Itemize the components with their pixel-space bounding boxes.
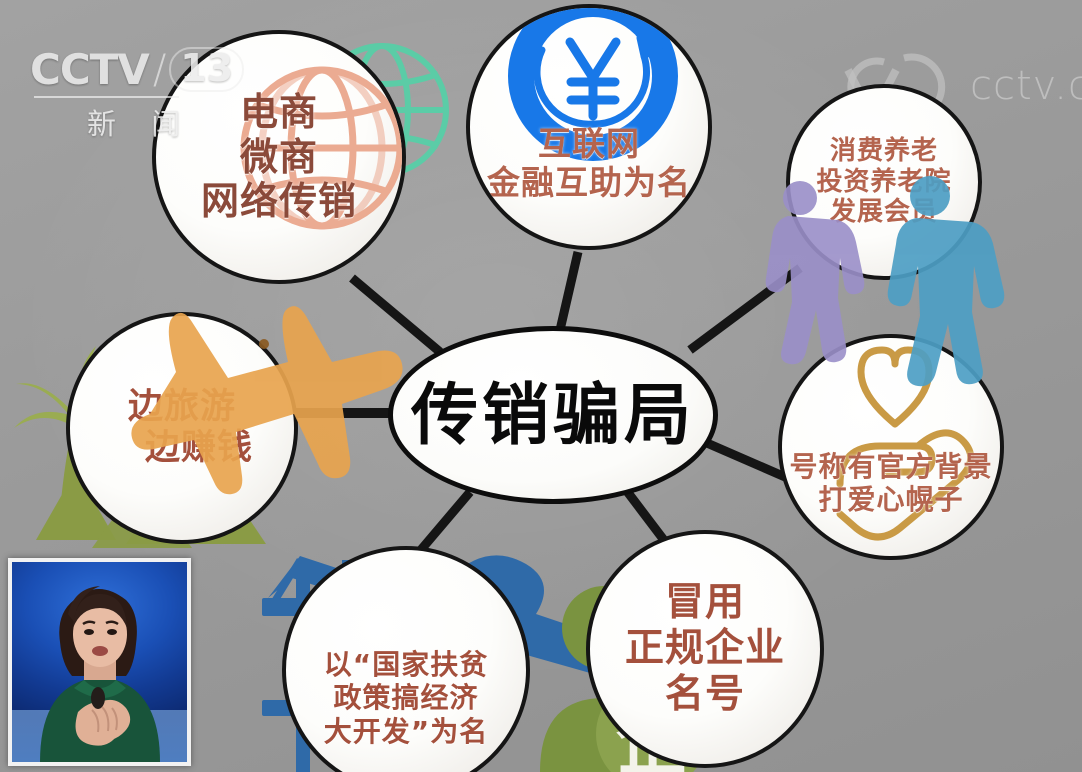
cctv-channel-name-cn: 新 闻 bbox=[30, 101, 244, 143]
logo-divider bbox=[34, 96, 179, 98]
news-anchor-figure bbox=[12, 562, 187, 762]
cctv-channel-logo: CCTV / 13 新 闻 bbox=[30, 45, 244, 143]
broadcast-screen: 企 传销骗局 电商 微商 网络传销 bbox=[0, 0, 1082, 772]
person-purple-icon bbox=[766, 181, 865, 364]
two-people-icon bbox=[766, 176, 1005, 386]
airplane-icon bbox=[131, 306, 402, 494]
person-blue-icon bbox=[888, 176, 1005, 386]
cctv-wordmark: CCTV bbox=[30, 45, 149, 94]
center-node-label: 传销骗局 bbox=[411, 382, 695, 449]
center-node-scam[interactable]: 传销骗局 bbox=[388, 326, 718, 504]
news-anchor-inset bbox=[8, 558, 191, 766]
logo-slash: / bbox=[153, 47, 166, 93]
cctv-channel-number: 13 bbox=[169, 47, 244, 93]
